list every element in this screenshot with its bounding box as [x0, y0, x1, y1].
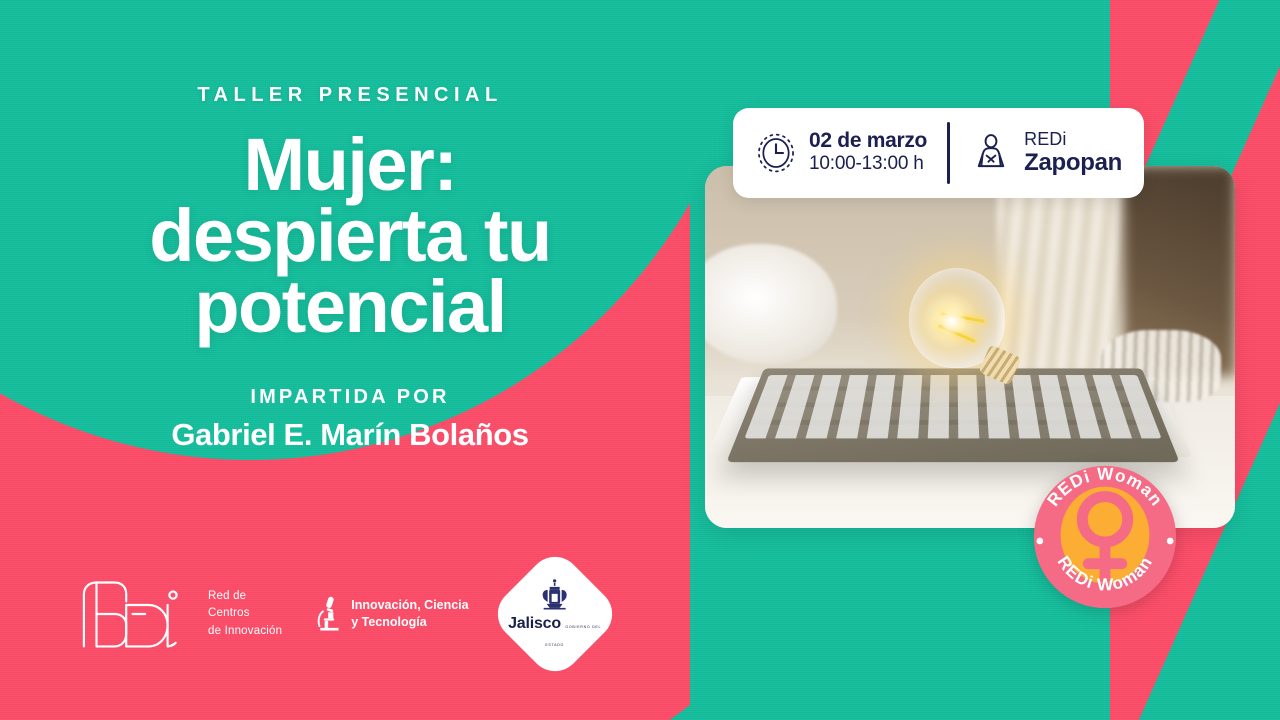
- badge-dot-left: [1036, 538, 1043, 545]
- person-at-desk-icon: [970, 132, 1012, 174]
- info-divider: [947, 122, 950, 184]
- date-time-text: 02 de marzo 10:00-13:00 h: [809, 130, 927, 175]
- redi-monogram-icon: [78, 578, 196, 650]
- jalisco-title: Jalisco: [508, 615, 561, 632]
- redi-subtitle: Red de Centros de Innovación: [208, 588, 282, 640]
- microscope-icon: [316, 594, 342, 634]
- presenter-name: Gabriel E. Marín Bolaños: [171, 417, 528, 453]
- venue-text: REDi Zapopan: [1024, 130, 1122, 176]
- badge-dot-right: [1167, 538, 1174, 545]
- photo-lightbulb: [901, 268, 1013, 398]
- event-info-card: 02 de marzo 10:00-13:00 h REDi Zapopan: [733, 108, 1144, 198]
- date-time-block: 02 de marzo 10:00-13:00 h: [755, 130, 927, 175]
- headline-line-2: despierta tu: [149, 200, 550, 271]
- jalisco-logo: Jalisco GOBIERNO DEL ESTADO: [487, 546, 623, 682]
- poster-canvas: TALLER PRESENCIAL Mujer: despierta tu po…: [0, 0, 1280, 720]
- bulb-glow: [937, 306, 967, 336]
- headline-line-1: Mujer:: [149, 129, 550, 200]
- presenter-label: IMPARTIDA POR: [250, 386, 449, 409]
- venue-block: REDi Zapopan: [970, 130, 1122, 176]
- event-time: 10:00-13:00 h: [809, 153, 927, 175]
- venue-city: Zapopan: [1024, 150, 1122, 176]
- innovacion-ciencia-tecnologia-logo: Innovación, Ciencia y Tecnología: [316, 594, 468, 634]
- venue-brand: REDi: [1024, 130, 1122, 150]
- redi-woman-badge: REDi Woman REDi Woman: [1026, 458, 1184, 616]
- event-date: 02 de marzo: [809, 130, 927, 153]
- ict-label: Innovación, Ciencia y Tecnología: [351, 597, 468, 631]
- logo-strip: Red de Centros de Innovación Innovación,…: [78, 566, 603, 662]
- jalisco-coat-of-arms-icon: [538, 578, 572, 614]
- clock-icon: [755, 132, 797, 174]
- redi-logo: Red de Centros de Innovación: [78, 578, 282, 650]
- headline-line-3: potencial: [149, 271, 550, 342]
- page-title: Mujer: despierta tu potencial: [149, 129, 550, 342]
- eyebrow-label: TALLER PRESENCIAL: [197, 84, 502, 107]
